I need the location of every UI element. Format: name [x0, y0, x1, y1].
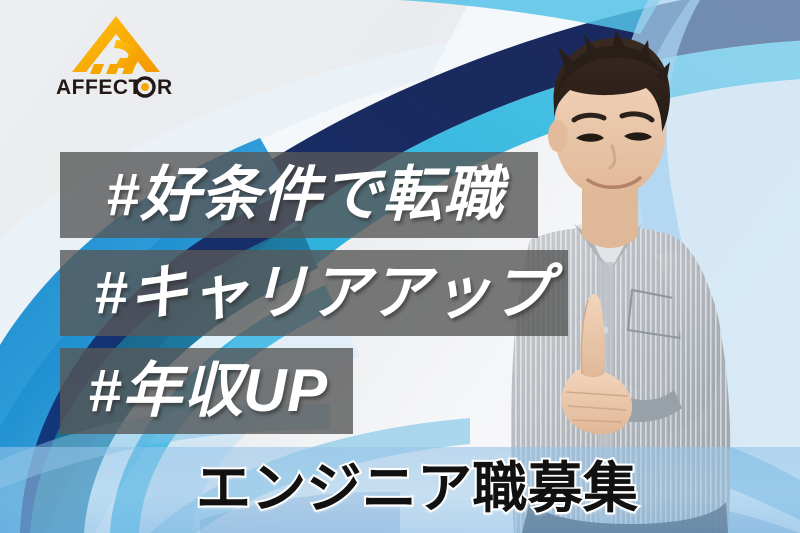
- affector-triangle-logo-icon: [70, 14, 162, 76]
- affector-wordmark: AFFECT R: [56, 74, 176, 100]
- svg-text:R: R: [157, 76, 172, 99]
- hashtag-banner-3: #年収UP: [60, 348, 353, 434]
- recruitment-banner-image: AFFECT R #好条件で転職 #キャリアアップ #年収UP エンジニア職募集: [0, 0, 800, 533]
- affector-logo: AFFECT R: [56, 14, 176, 106]
- hashtag-banner-2-text: #キャリアアップ: [60, 263, 552, 323]
- headline-text: エンジニア職募集: [196, 461, 638, 516]
- hashtag-banner-1-text: #好条件で転職: [60, 165, 504, 225]
- headline-container: エンジニア職募集: [196, 455, 626, 521]
- svg-text:AFFECT: AFFECT: [56, 76, 142, 99]
- hashtag-banner-2: #キャリアアップ: [60, 250, 568, 336]
- hashtag-banner-3-text: #年収UP: [60, 361, 328, 421]
- hashtag-banner-1: #好条件で転職: [60, 152, 538, 238]
